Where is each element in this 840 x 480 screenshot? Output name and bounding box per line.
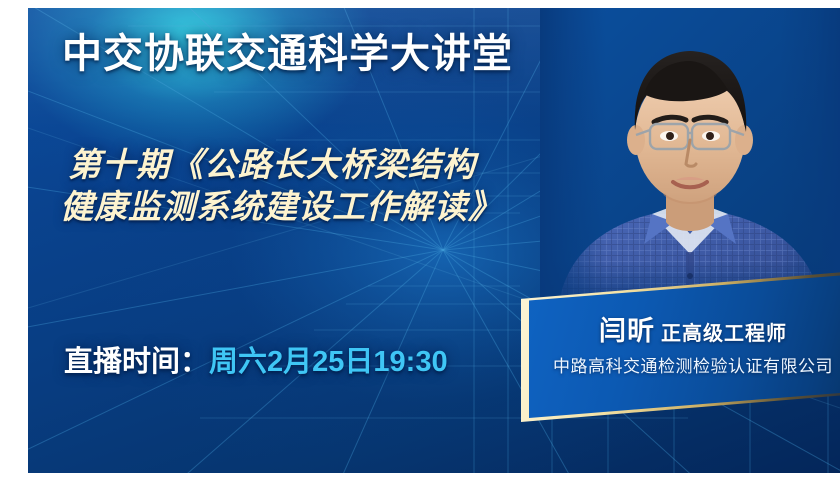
poster-headline: 中交协联交通科学大讲堂 xyxy=(62,32,513,77)
live-time-label: 直播时间： xyxy=(64,346,209,378)
speaker-organization: 中路高科交通检测检验认证有限公司 xyxy=(529,352,840,377)
speaker-name-row: 闫昕正高级工程师 xyxy=(529,309,840,348)
subtitle-line-2: 健康监测系统建设工作解读》 xyxy=(60,186,568,228)
live-time-value: 周六2月25日19:30 xyxy=(209,346,448,378)
speaker-portrait-photo xyxy=(540,8,840,308)
speaker-title: 正高级工程师 xyxy=(661,323,787,345)
poster-subtitle: 第十期《公路长大桥梁结构 健康监测系统建设工作解读》 xyxy=(68,144,568,228)
subtitle-line-1: 第十期《公路长大桥梁结构 xyxy=(68,146,476,183)
live-time-line: 直播时间：周六2月25日19:30 xyxy=(64,338,448,380)
poster-canvas: 中交协联交通科学大讲堂 第十期《公路长大桥梁结构 健康监测系统建设工作解读》 直… xyxy=(28,8,840,473)
portrait-illustration xyxy=(540,8,840,308)
speaker-name: 闫昕 xyxy=(599,316,655,346)
